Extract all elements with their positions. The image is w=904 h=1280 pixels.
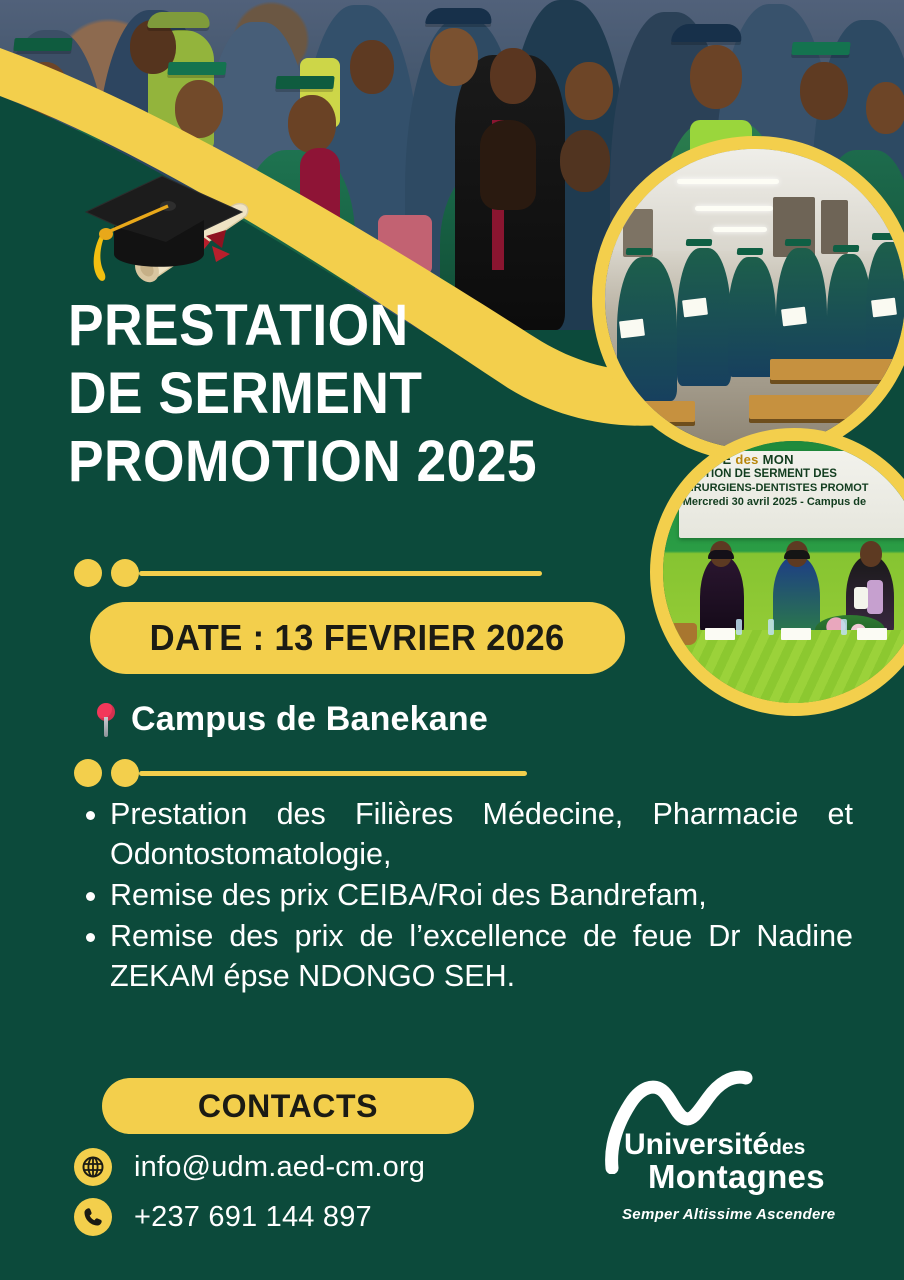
divider-top xyxy=(74,558,542,588)
logo-motto: Semper Altissime Ascendere xyxy=(622,1206,835,1223)
contact-email-row[interactable]: info@udm.aed-cm.org xyxy=(74,1148,425,1186)
event-poster: ERSITÉ des MON STATION DE SERMENT DES HI… xyxy=(0,0,904,1280)
students-taking-oath-photo xyxy=(592,136,904,462)
page-title: PRESTATION DE SERMENT PROMOTION 2025 xyxy=(68,292,546,496)
logo-name-line-1: Universitédes xyxy=(624,1128,805,1162)
head-table-ceremony-photo: ERSITÉ des MON STATION DE SERMENT DES HI… xyxy=(650,428,904,716)
divider-dot xyxy=(74,759,102,787)
list-item: Remise des prix de l’excellence de feue … xyxy=(110,917,853,997)
date-label: DATE : 13 FEVRIER 2026 xyxy=(150,617,565,659)
logo-name-line-2: Montagnes xyxy=(648,1158,825,1196)
program-list: Prestation des Filières Médecine, Pharma… xyxy=(78,795,853,998)
university-logo: Universitédes Montagnes Semper Altissime… xyxy=(596,1070,871,1250)
list-item: Remise des prix CEIBA/Roi des Bandrefam, xyxy=(110,876,853,916)
banner-line-4: Mercredi 30 avril 2025 - Campus de xyxy=(683,496,904,508)
divider-bar xyxy=(139,571,542,576)
location-pin-icon xyxy=(95,703,117,737)
contacts-heading-label: CONTACTS xyxy=(198,1088,378,1125)
list-item: Prestation des Filières Médecine, Pharma… xyxy=(110,795,853,875)
divider-dot xyxy=(111,759,139,787)
contact-phone-row[interactable]: +237 691 144 897 xyxy=(74,1198,372,1236)
contact-email-value[interactable]: info@udm.aed-cm.org xyxy=(134,1151,425,1184)
divider-dot xyxy=(111,559,139,587)
globe-icon xyxy=(74,1148,112,1186)
title-line-3: PROMOTION 2025 xyxy=(68,428,546,496)
phone-icon xyxy=(74,1198,112,1236)
divider-bar xyxy=(139,771,527,776)
ceremony-banner: ERSITÉ des MON STATION DE SERMENT DES HI… xyxy=(679,451,904,537)
title-line-2: DE SERMENT xyxy=(68,360,546,428)
divider-bottom xyxy=(74,758,527,788)
divider-dot xyxy=(74,559,102,587)
contacts-heading-badge: CONTACTS xyxy=(102,1078,474,1134)
hall-background xyxy=(605,149,904,449)
banner-line-2: STATION DE SERMENT DES xyxy=(683,468,904,480)
location-label: Campus de Banekane xyxy=(131,700,488,739)
date-badge: DATE : 13 FEVRIER 2026 xyxy=(90,602,625,674)
contact-phone-value[interactable]: +237 691 144 897 xyxy=(134,1201,372,1234)
banner-line-1: ERSITÉ des MON xyxy=(683,452,904,467)
graduation-cap-and-diploma-graphic xyxy=(46,150,286,310)
banner-line-3: HIRURGIENS-DENTISTES PROMOT xyxy=(683,482,904,494)
location-row: Campus de Banekane xyxy=(95,700,488,739)
title-line-1: PRESTATION xyxy=(68,292,546,360)
stage-background: ERSITÉ des MON STATION DE SERMENT DES HI… xyxy=(663,441,904,703)
